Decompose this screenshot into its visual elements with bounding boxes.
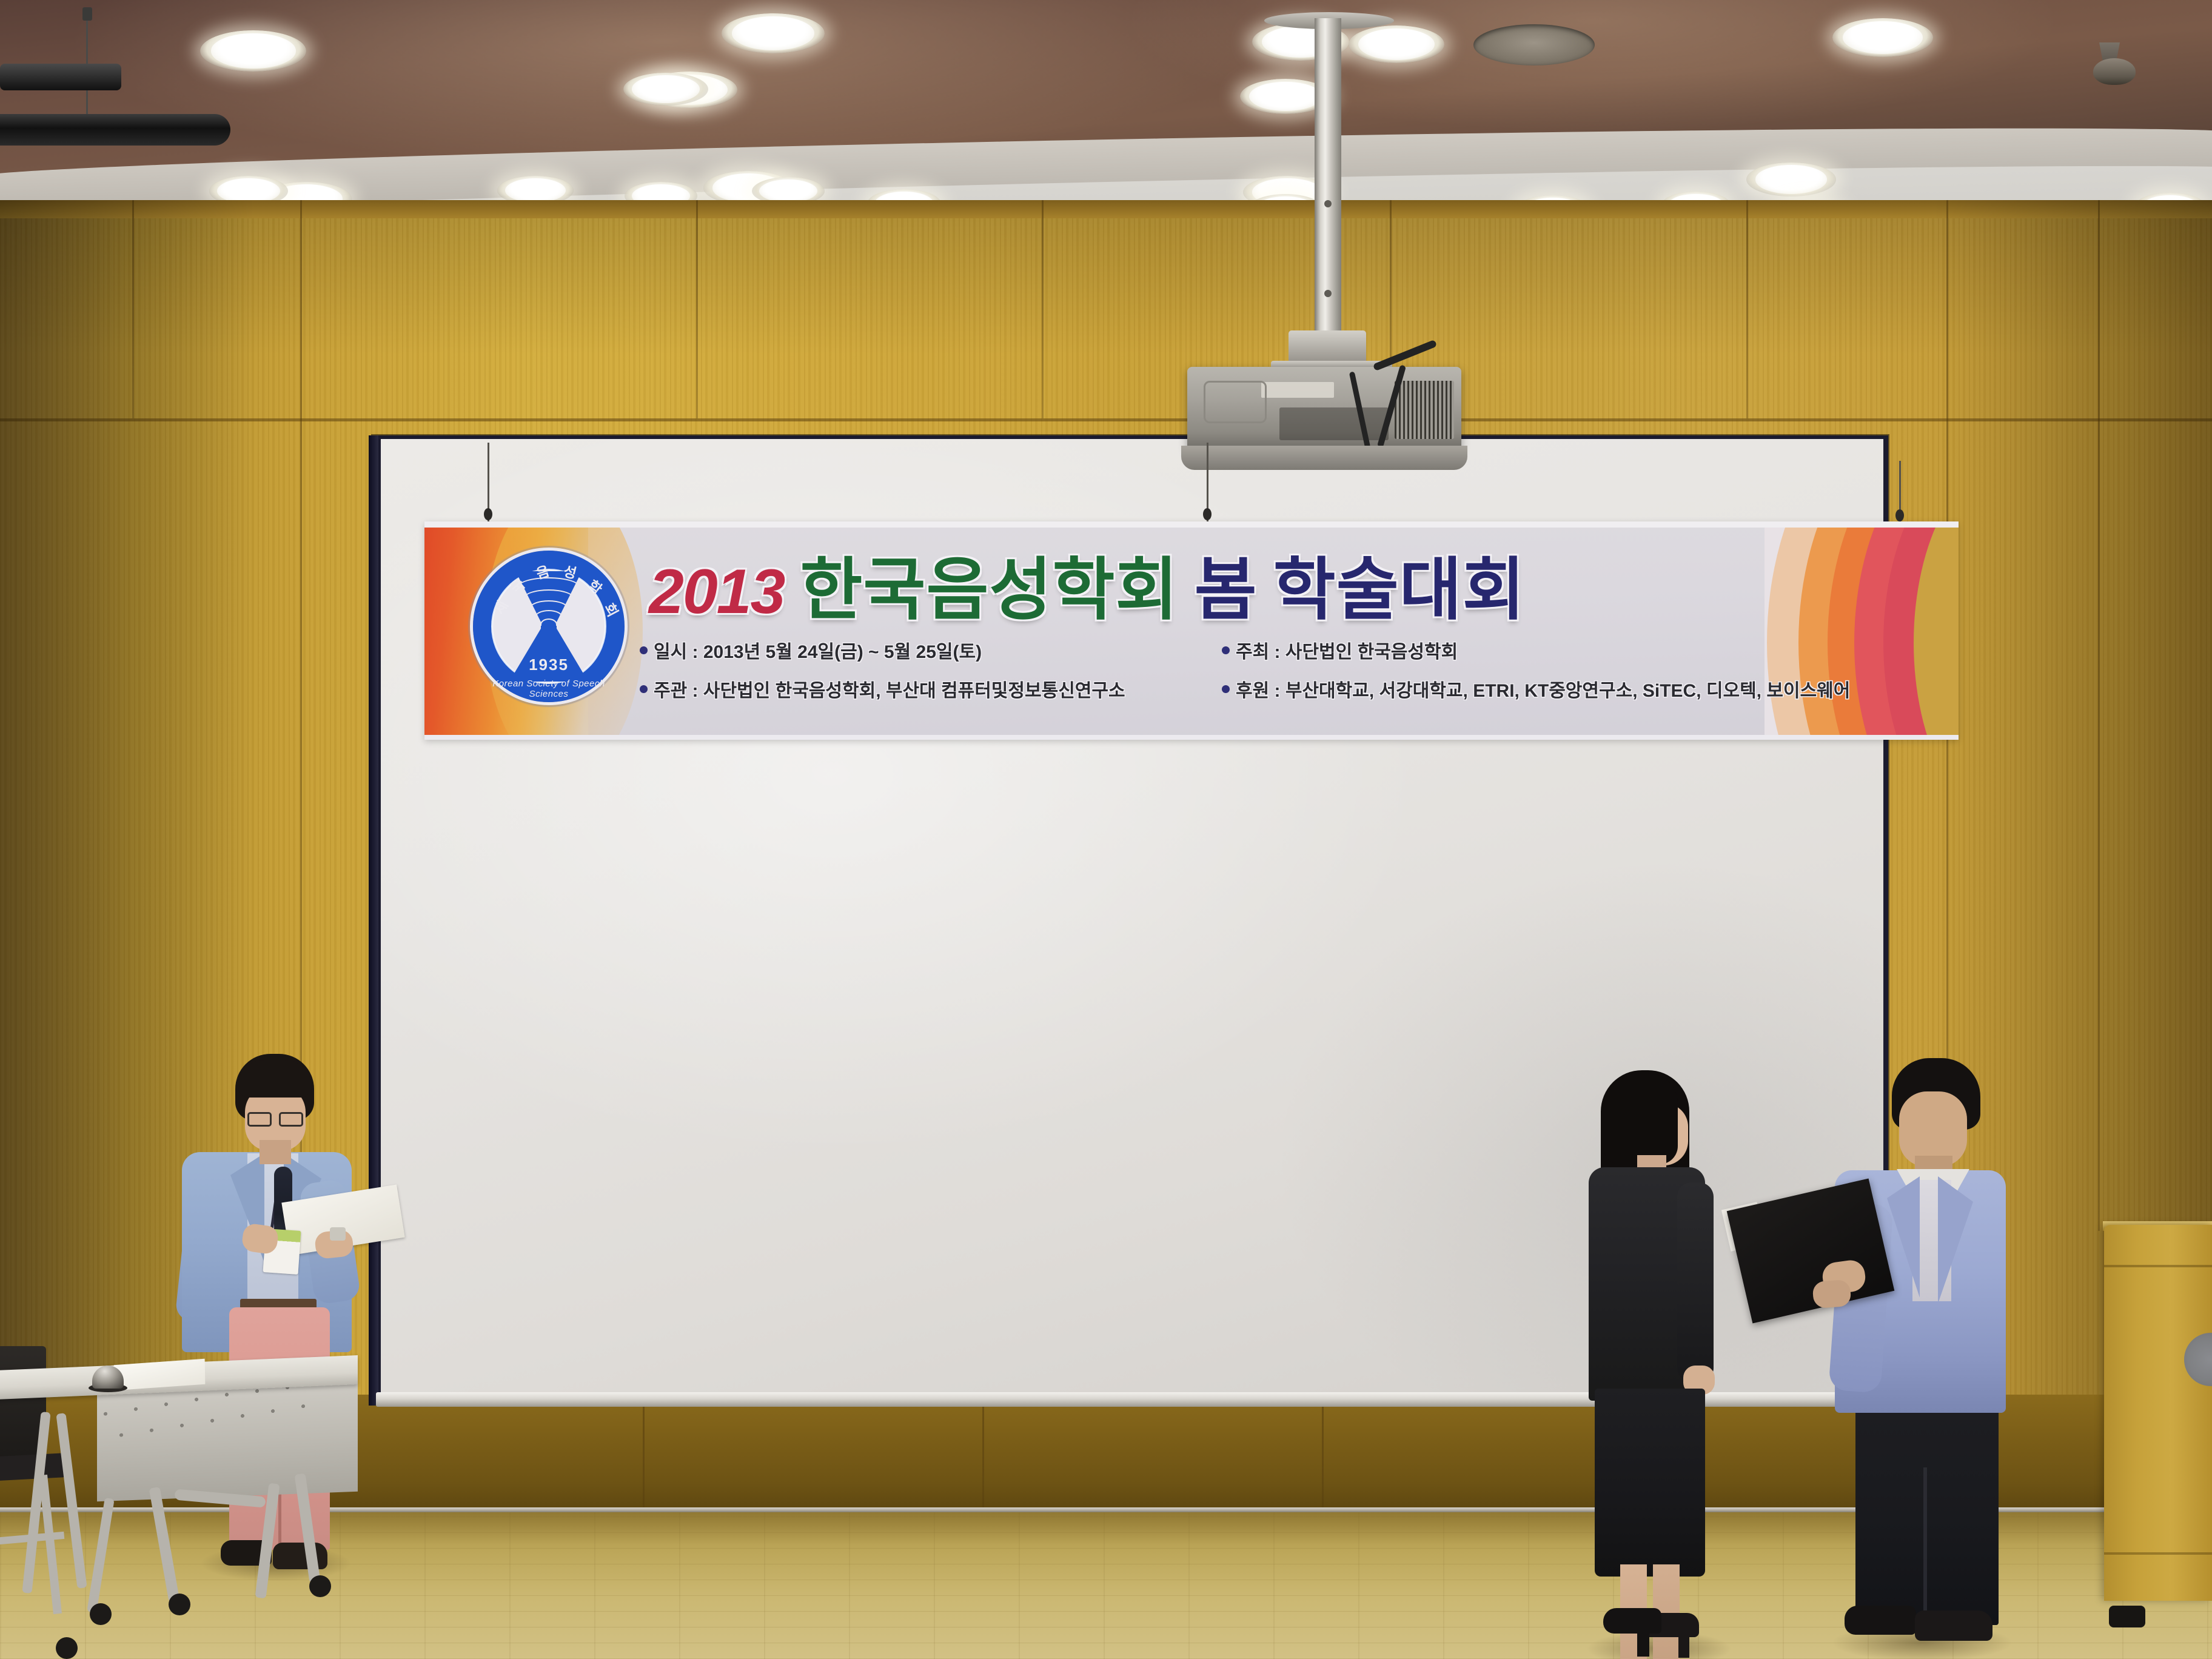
banner-detail-text: 주관 : 사단법인 한국음성학회, 부산대 컴퓨터및정보통신연구소 xyxy=(654,675,1125,702)
presenter-shoe xyxy=(1915,1610,1992,1641)
banner-detail-cell: 주관 : 사단법인 한국음성학회, 부산대 컴퓨터및정보통신연구소 xyxy=(640,675,1222,702)
ceiling-downlight xyxy=(1832,18,1933,57)
presenter-trouser-seam xyxy=(1923,1467,1927,1625)
host-neck xyxy=(260,1140,291,1164)
auditorium-scene: 제 국 음 성 학 회 1935 Korean Society of Speec… xyxy=(0,0,2212,1659)
bullet-icon xyxy=(1222,685,1230,693)
ceiling-downlight xyxy=(722,13,825,53)
banner-detail-sponsors: 후원 : 부산대학교, 서강대학교, ETRI, KT중앙연구소, SiTEC,… xyxy=(1222,675,1925,702)
recipient-shoe xyxy=(1603,1608,1661,1634)
banner-year: 2013 xyxy=(649,556,784,628)
presenter-hand xyxy=(1812,1279,1852,1309)
banner-detail-row: 주관 : 사단법인 한국음성학회, 부산대 컴퓨터및정보통신연구소 후원 : 부… xyxy=(640,675,1925,702)
table-apron-panel xyxy=(97,1382,358,1502)
banner-content: 제 국 음 성 학 회 1935 Korean Society of Speec… xyxy=(424,521,1959,740)
host-hair-fringe xyxy=(238,1060,312,1098)
projector-vent-grille-icon xyxy=(1395,381,1454,439)
banner-detail-cell: 일시 : 2013년 5월 24일(금) ~ 5월 25일(토) xyxy=(640,637,1222,663)
projector-spec-label xyxy=(1261,382,1334,398)
banner-detail-cell: 후원 : 부산대학교, 서강대학교, ETRI, KT중앙연구소, SiTEC,… xyxy=(1222,675,1925,702)
banner-wire-hook xyxy=(484,508,492,520)
banner-details: 일시 : 2013년 5월 24일(금) ~ 5월 25일(토) 주최 : 사단… xyxy=(640,637,1925,714)
table-caster-wheel xyxy=(56,1637,78,1659)
bullet-icon xyxy=(1222,646,1230,654)
projector-pole-screw xyxy=(1324,200,1332,207)
host-eyeglasses-icon xyxy=(247,1112,306,1127)
banner-detail-date: 일시 : 2013년 5월 24일(금) ~ 5월 25일(토) xyxy=(640,637,1222,663)
wall-panel-seam xyxy=(696,200,698,418)
conference-banner: 제 국 음 성 학 회 1935 Korean Society of Speec… xyxy=(424,521,1959,740)
bullet-icon xyxy=(640,646,648,654)
ceiling-downlight xyxy=(623,73,708,106)
table-perforation-pattern xyxy=(97,1382,358,1502)
ceiling-speaker-mount xyxy=(0,64,121,90)
table-caster-wheel xyxy=(90,1603,112,1625)
ceiling-downlight xyxy=(1746,163,1836,196)
host-wristwatch-icon xyxy=(330,1227,346,1241)
banner-detail-text: 주최 : 사단법인 한국음성학회 xyxy=(1236,637,1458,663)
emblem-english-name: Korean Society of Speech Sciences xyxy=(473,679,625,699)
banner-detail-organizer: 주최 : 사단법인 한국음성학회 xyxy=(1222,637,1925,663)
banner-wire-hook xyxy=(1895,509,1904,521)
bullet-icon xyxy=(640,685,648,693)
banner-detail-text: 후원 : 부산대학교, 서강대학교, ETRI, KT중앙연구소, SiTEC,… xyxy=(1236,675,1850,702)
wall-horizontal-seam xyxy=(0,418,2212,421)
projector-port-panel xyxy=(1279,407,1389,440)
banner-wire-hook xyxy=(1203,508,1212,520)
recipient-skirt xyxy=(1595,1389,1705,1577)
recipient-shoe-heel xyxy=(1678,1634,1689,1658)
wall-top-trim xyxy=(0,200,2212,218)
host-shoe xyxy=(273,1543,327,1569)
banner-society-name: 한국음성학회 xyxy=(800,535,1178,633)
projection-screen-left-edge xyxy=(369,435,378,1406)
wainscot-seam xyxy=(1322,1395,1324,1513)
banner-detail-cell: 주최 : 사단법인 한국음성학회 xyxy=(1222,637,1925,663)
ceiling-downlight xyxy=(200,30,306,72)
emblem-founding-year: 1935 xyxy=(473,655,625,674)
banner-detail-row: 일시 : 2013년 5월 24일(금) ~ 5월 25일(토) 주최 : 사단… xyxy=(640,637,1925,663)
podium-foot xyxy=(2109,1606,2145,1627)
ceiling-cable-clip xyxy=(82,7,92,21)
banner-detail-host: 주관 : 사단법인 한국음성학회, 부산대 컴퓨터및정보통신연구소 xyxy=(640,675,1222,702)
table-caster-wheel xyxy=(309,1575,331,1597)
table-caster-wheel xyxy=(169,1594,190,1615)
projector-lens-shroud xyxy=(1181,446,1467,470)
recipient-hair-front xyxy=(1604,1073,1678,1164)
banner-event-name: 학술대회 xyxy=(1273,535,1526,633)
ceiling-black-pipe xyxy=(0,114,230,146)
ceiling-downlight xyxy=(1349,25,1444,63)
recipient-shoe-heel xyxy=(1637,1630,1649,1657)
banner-detail-text: 일시 : 2013년 5월 24일(금) ~ 5월 25일(토) xyxy=(654,637,982,663)
ceiling-air-vent xyxy=(1473,24,1595,65)
ceiling-camera-dome-icon xyxy=(2093,58,2136,85)
podium-trim-line xyxy=(2104,1265,2212,1267)
stacking-chair-seat[interactable] xyxy=(0,1453,67,1482)
banner-title: 2013 한국음성학회 봄 학술대회 xyxy=(649,535,1526,633)
wall-panel-seam xyxy=(1042,200,1044,418)
wooden-podium xyxy=(2104,1225,2212,1601)
podium-trim-line xyxy=(2104,1552,2212,1555)
presenter-shoe xyxy=(1845,1606,1916,1635)
presenter-trousers xyxy=(1855,1389,1999,1625)
wainscot-seam xyxy=(982,1395,984,1513)
projector-pole-screw xyxy=(1324,290,1332,297)
wainscot-seam xyxy=(643,1395,645,1513)
projector-mount-pole xyxy=(1315,18,1341,333)
recipient-arm xyxy=(1677,1182,1714,1382)
society-emblem-icon: 제 국 음 성 학 회 1935 Korean Society of Speec… xyxy=(473,551,625,702)
banner-season: 봄 xyxy=(1195,535,1258,633)
projector-lens-cover xyxy=(1204,381,1267,423)
wall-panel-seam xyxy=(1746,200,1748,418)
